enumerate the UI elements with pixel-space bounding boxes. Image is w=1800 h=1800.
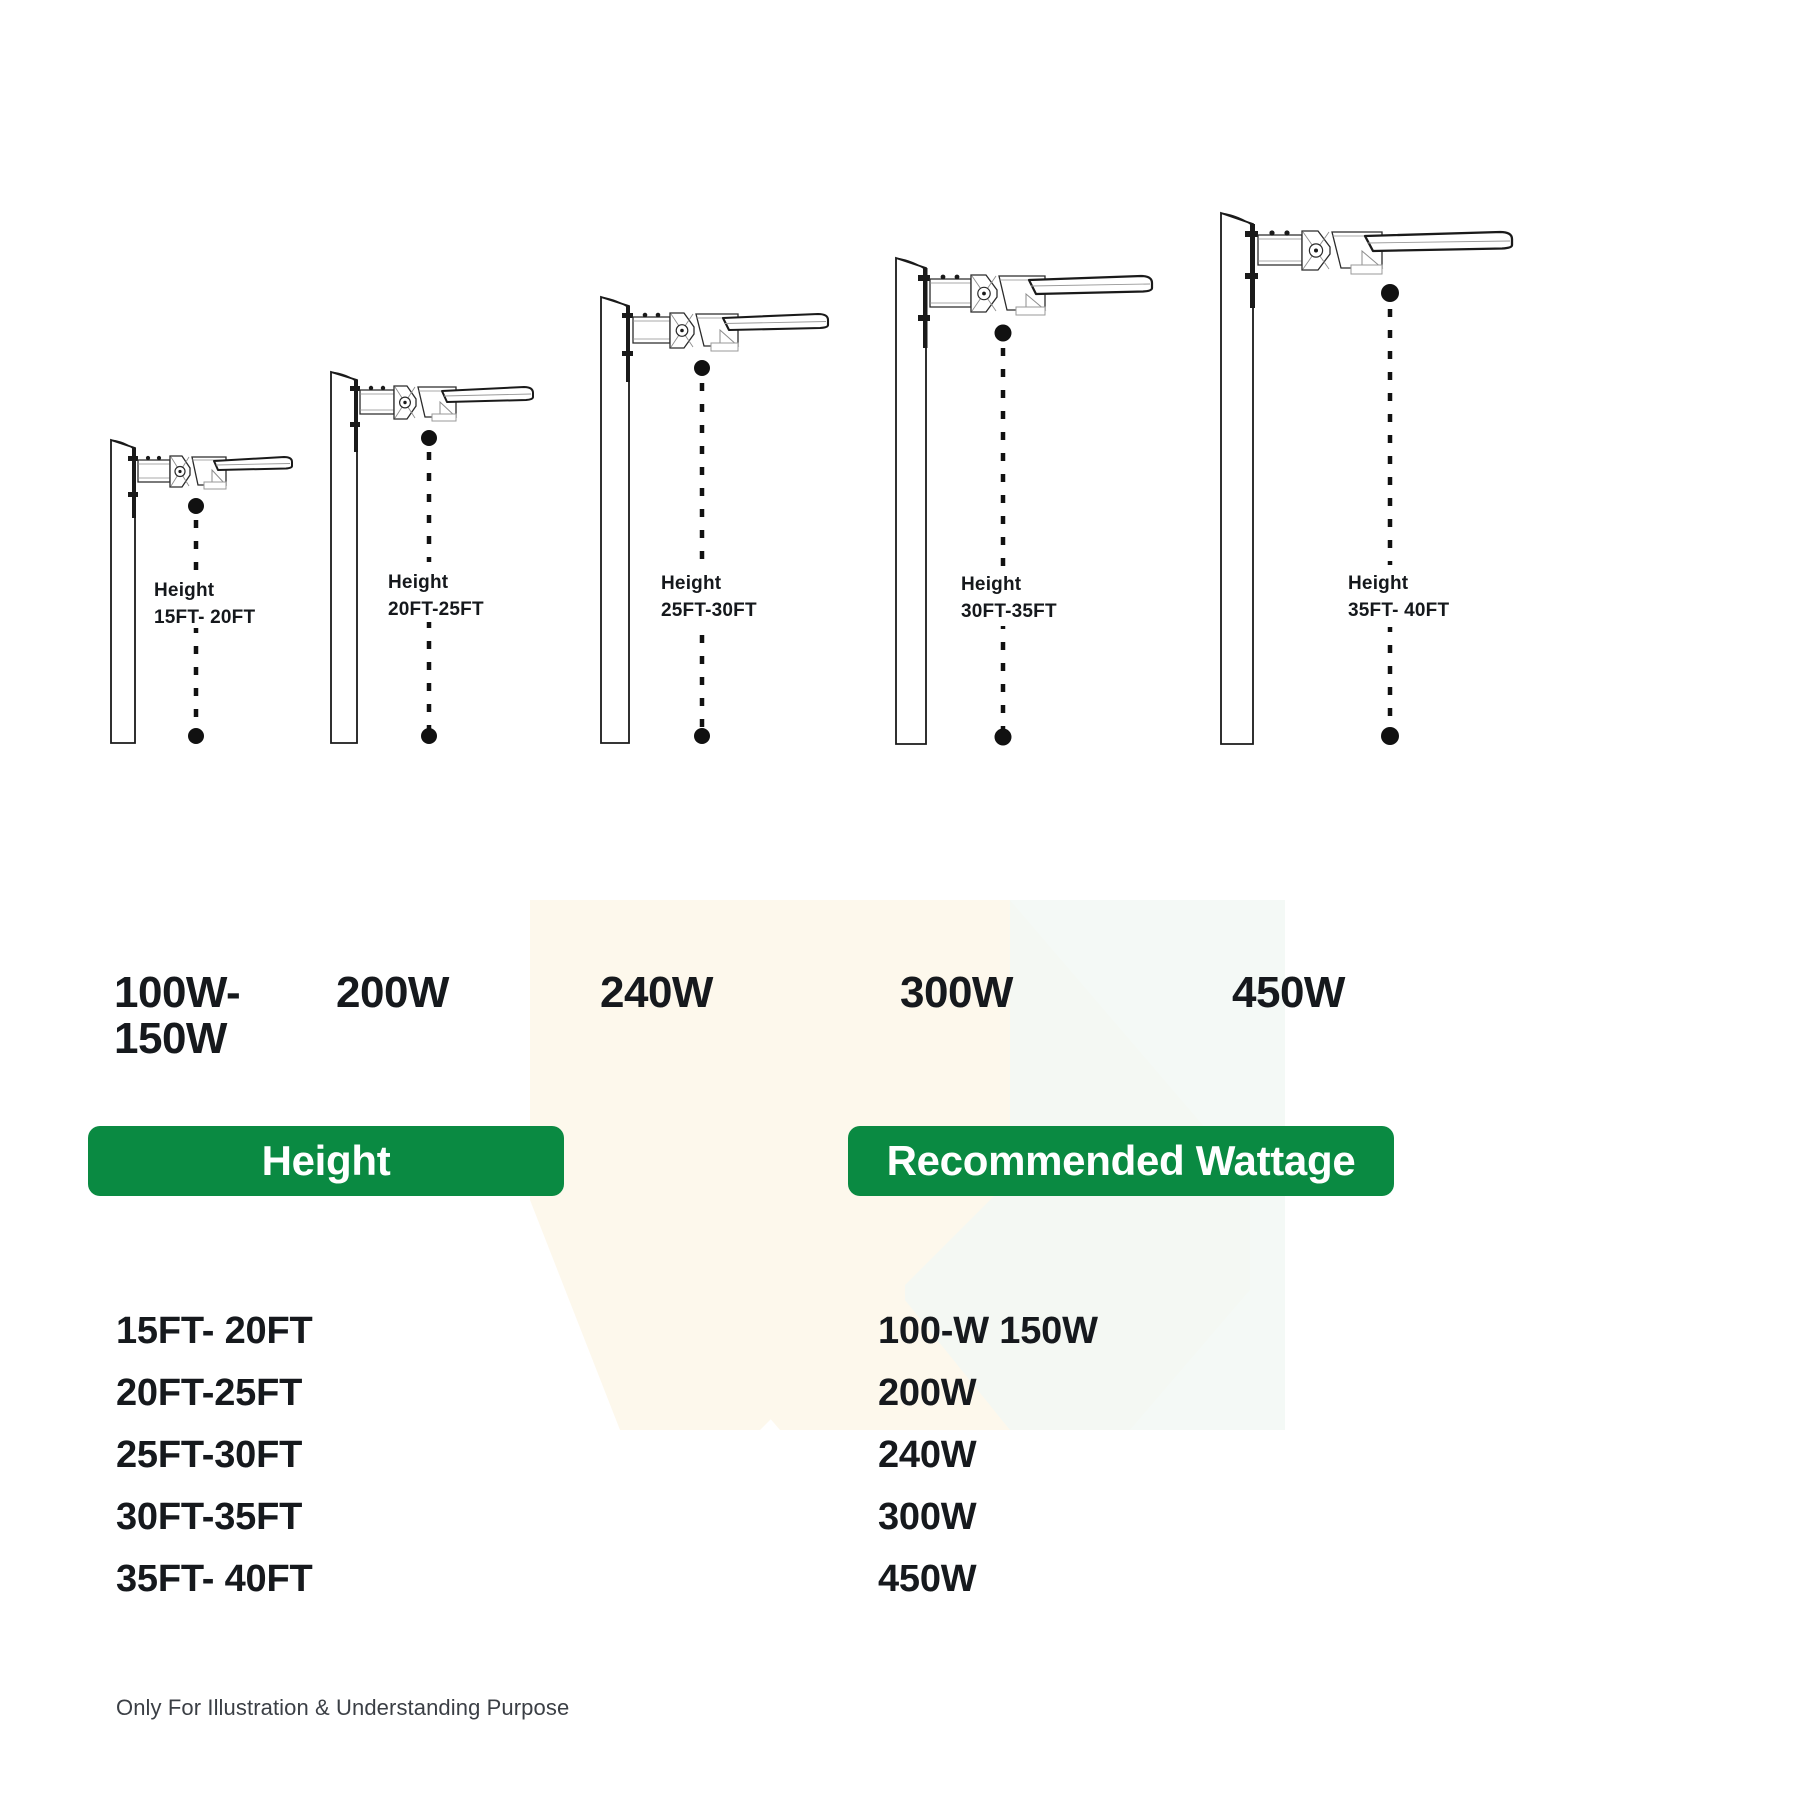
wattage-cell: 100-W 150W [878, 1300, 1098, 1362]
wattage-label-2: 200W [336, 970, 449, 1016]
wattage-label-5-text: 450W [1232, 970, 1345, 1016]
pole-group-5: Height 35FT- 40FT [1218, 203, 1548, 753]
wattage-label-3: 240W [600, 970, 713, 1016]
height-cell: 30FT-35FT [116, 1486, 313, 1548]
wattage-label-5: 450W [1232, 970, 1345, 1016]
pole-3-caption-line2: 25FT-30FT [661, 598, 757, 625]
pole-3-caption-line1: Height [661, 571, 757, 598]
infographic-root: Height 15FT- 20FT [0, 0, 1800, 1800]
wattage-label-1-line2: 150W [114, 1016, 240, 1062]
wattage-cell: 300W [878, 1486, 1098, 1548]
wattage-cell: 200W [878, 1362, 1098, 1424]
pole-4-caption: Height 30FT-35FT [961, 572, 1057, 626]
height-cell: 15FT- 20FT [116, 1300, 313, 1362]
wattage-label-4: 300W [900, 970, 1013, 1016]
pole-2-drawing [328, 362, 558, 752]
pole-2-caption-line1: Height [388, 570, 484, 597]
height-cell: 35FT- 40FT [116, 1548, 313, 1610]
wattage-label-1: 100W- 150W [114, 970, 240, 1062]
pole-4-drawing [893, 248, 1183, 753]
header-pill-wattage-label: Recommended Wattage [887, 1137, 1356, 1185]
wattage-label-3-text: 240W [600, 970, 713, 1016]
pole-2-caption: Height 20FT-25FT [388, 570, 484, 624]
header-pill-height: Height [88, 1126, 564, 1196]
pole-group-3: Height 25FT-30FT [598, 287, 858, 752]
pole-1-caption-line1: Height [154, 578, 255, 605]
wattage-label-1-line1: 100W- [114, 970, 240, 1016]
wattage-label-4-text: 300W [900, 970, 1013, 1016]
header-pill-wattage: Recommended Wattage [848, 1126, 1394, 1196]
height-column: 15FT- 20FT 20FT-25FT 25FT-30FT 30FT-35FT… [116, 1300, 313, 1610]
wattage-cell: 450W [878, 1548, 1098, 1610]
pole-3-drawing [598, 287, 858, 752]
pole-1-caption-line2: 15FT- 20FT [154, 605, 255, 632]
pole-group-4: Height 30FT-35FT [893, 248, 1183, 753]
pole-group-1: Height 15FT- 20FT [108, 430, 308, 750]
pole-5-caption-line1: Height [1348, 571, 1449, 598]
pole-5-drawing [1218, 203, 1548, 753]
wattage-cell: 240W [878, 1424, 1098, 1486]
pole-3-caption: Height 25FT-30FT [661, 571, 757, 625]
wattage-column: 100-W 150W 200W 240W 300W 450W [878, 1300, 1098, 1610]
header-pill-height-label: Height [262, 1137, 391, 1185]
wattage-label-2-text: 200W [336, 970, 449, 1016]
pole-4-caption-line2: 30FT-35FT [961, 599, 1057, 626]
height-cell: 25FT-30FT [116, 1424, 313, 1486]
pole-2-caption-line2: 20FT-25FT [388, 597, 484, 624]
pole-4-caption-line1: Height [961, 572, 1057, 599]
pole-5-caption: Height 35FT- 40FT [1348, 571, 1449, 625]
pole-5-caption-line2: 35FT- 40FT [1348, 598, 1449, 625]
pole-illustrations: Height 15FT- 20FT [0, 0, 1800, 960]
footnote: Only For Illustration & Understanding Pu… [116, 1695, 569, 1721]
pole-1-caption: Height 15FT- 20FT [154, 578, 255, 632]
pole-group-2: Height 20FT-25FT [328, 362, 558, 752]
height-cell: 20FT-25FT [116, 1362, 313, 1424]
